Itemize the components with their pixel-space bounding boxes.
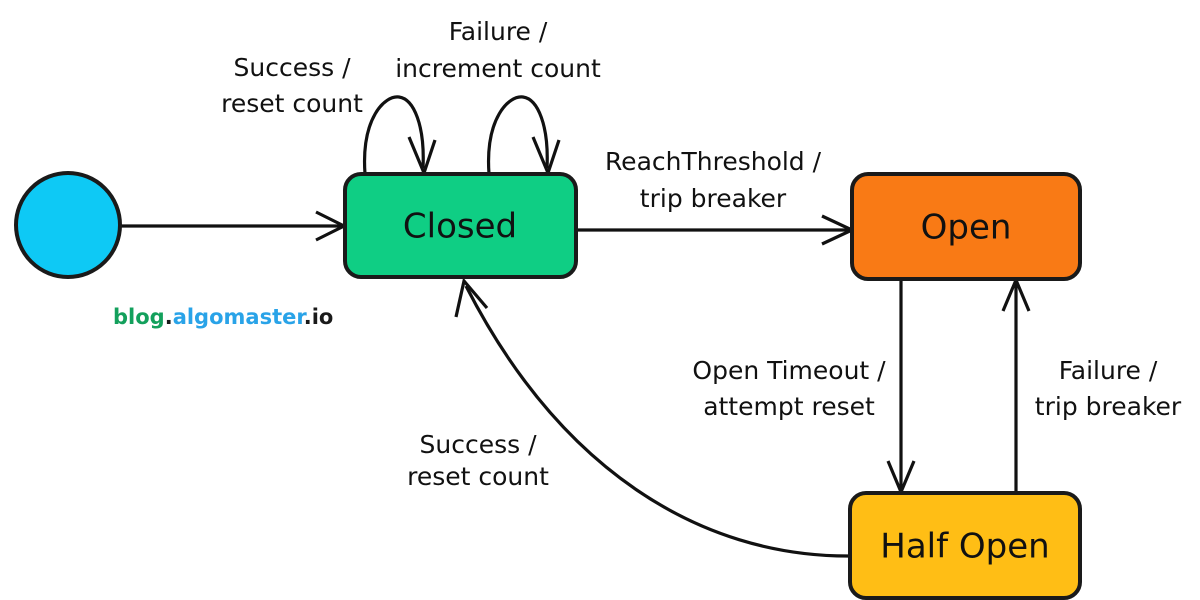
watermark-part-algomaster: algomaster	[173, 305, 308, 329]
edge-closed-self-success	[365, 97, 435, 174]
edge-label-closed-self-failure: Failure / increment count	[395, 17, 601, 83]
start-state-circle[interactable]	[16, 173, 120, 277]
edge-half-open-to-closed-curve	[466, 286, 848, 556]
edge-label-half-open-to-open-line1: Failure /	[1059, 356, 1158, 385]
closed-state-label: Closed	[403, 207, 517, 247]
open-state-label: Open	[921, 208, 1012, 248]
edge-label-closed-self-success: Success / reset count	[221, 53, 363, 118]
node-half-open[interactable]: Half Open	[850, 493, 1080, 598]
state-diagram-svg: Closed Open Half Open Success / reset co…	[0, 0, 1200, 600]
edge-label-open-to-half-open: Open Timeout / attempt reset	[692, 356, 886, 421]
watermark-text[interactable]: blog.algomaster.io	[113, 305, 333, 329]
watermark-part-blog: blog	[113, 305, 165, 329]
edge-label-closed-to-open-line2: trip breaker	[640, 184, 787, 213]
watermark[interactable]: blog.algomaster.io	[113, 305, 333, 329]
diagram-canvas: Closed Open Half Open Success / reset co…	[0, 0, 1200, 600]
edge-label-open-to-half-open-line1: Open Timeout /	[692, 356, 886, 385]
edge-label-closed-self-failure-line1: Failure /	[449, 17, 548, 46]
edge-label-closed-to-open-line1: ReachThreshold /	[605, 147, 822, 176]
edge-closed-to-open	[576, 216, 852, 244]
node-open[interactable]: Open	[852, 174, 1080, 279]
edge-half-open-to-open	[1003, 280, 1029, 493]
edge-label-half-open-to-closed-line2: reset count	[407, 462, 549, 491]
edge-label-open-to-half-open-line2: attempt reset	[703, 392, 875, 421]
edge-label-half-open-to-open-line2: trip breaker	[1035, 392, 1182, 421]
watermark-part-io: .io	[304, 305, 334, 329]
edge-label-closed-to-open: ReachThreshold / trip breaker	[605, 147, 822, 213]
edge-open-to-half-open	[888, 279, 914, 492]
edge-label-half-open-to-open: Failure / trip breaker	[1035, 356, 1182, 421]
watermark-dot-1: .	[165, 305, 173, 329]
edge-label-half-open-to-closed: Success / reset count	[407, 430, 549, 491]
edge-closed-self-failure	[489, 97, 559, 174]
edge-label-closed-self-success-line1: Success /	[233, 53, 351, 82]
half-open-state-label: Half Open	[880, 527, 1049, 567]
node-closed[interactable]: Closed	[345, 174, 576, 277]
edge-label-closed-self-success-line2: reset count	[221, 89, 363, 118]
node-start[interactable]	[16, 173, 120, 277]
edge-start-to-closed	[121, 212, 344, 240]
edge-label-half-open-to-closed-line1: Success /	[419, 430, 537, 459]
edge-closed-self-success-arc	[365, 97, 424, 174]
edge-closed-self-failure-arc	[489, 97, 548, 174]
edge-label-closed-self-failure-line2: increment count	[395, 54, 601, 83]
